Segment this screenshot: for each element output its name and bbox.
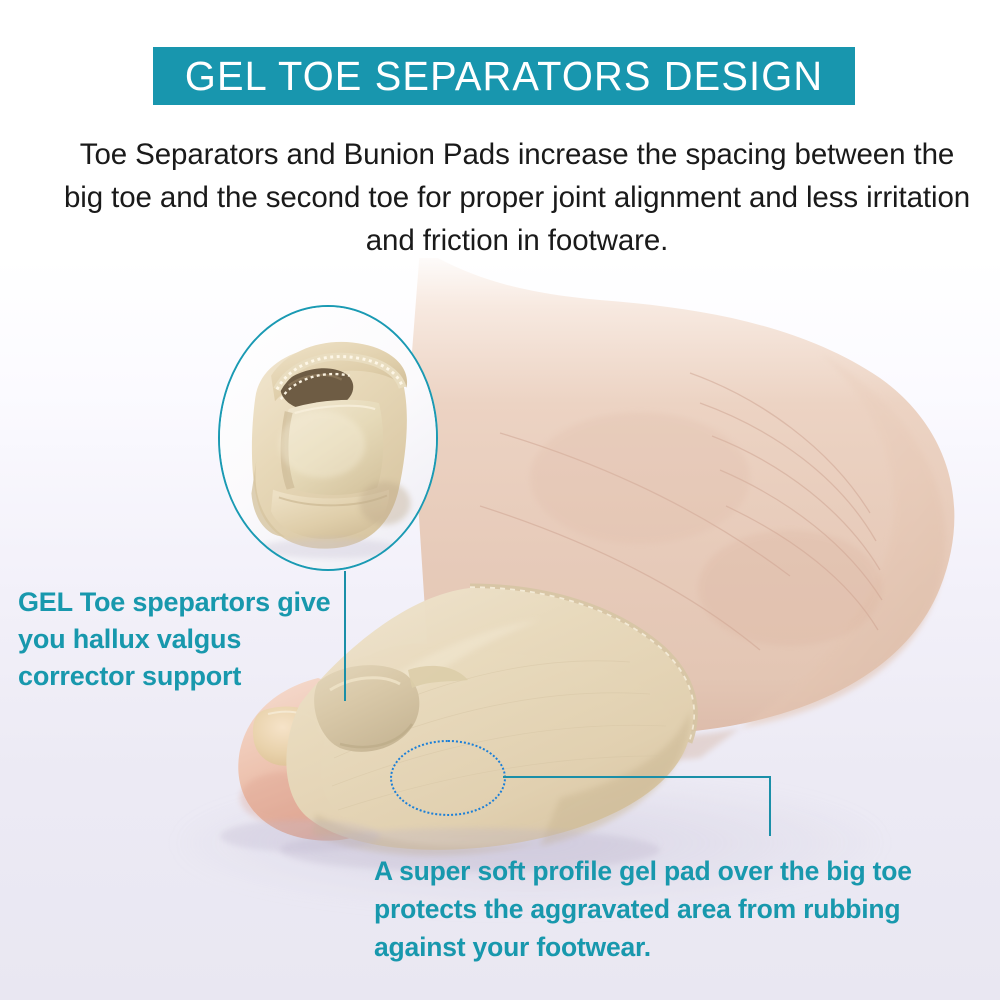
intro-paragraph: Toe Separators and Bunion Pads increase … <box>62 133 972 262</box>
connector-line-gelpad-horizontal <box>503 776 771 778</box>
inset-product-illustration <box>220 307 436 568</box>
page-title: GEL TOE SEPARATORS DESIGN <box>185 56 823 97</box>
connector-line-gelpad-vertical <box>769 776 771 836</box>
inset-product-photo <box>218 305 438 571</box>
infographic-page: GEL TOE SEPARATORS DESIGN Toe Separators… <box>0 0 1000 1000</box>
callout-bottom-text: A super soft profile gel pad over the bi… <box>374 852 954 966</box>
title-banner: GEL TOE SEPARATORS DESIGN <box>153 47 855 105</box>
connector-line-inset <box>344 571 346 701</box>
callout-left-text: GEL Toe spepartors give you hallux valgu… <box>18 584 338 695</box>
gel-pad-highlight-ellipse <box>390 740 506 816</box>
